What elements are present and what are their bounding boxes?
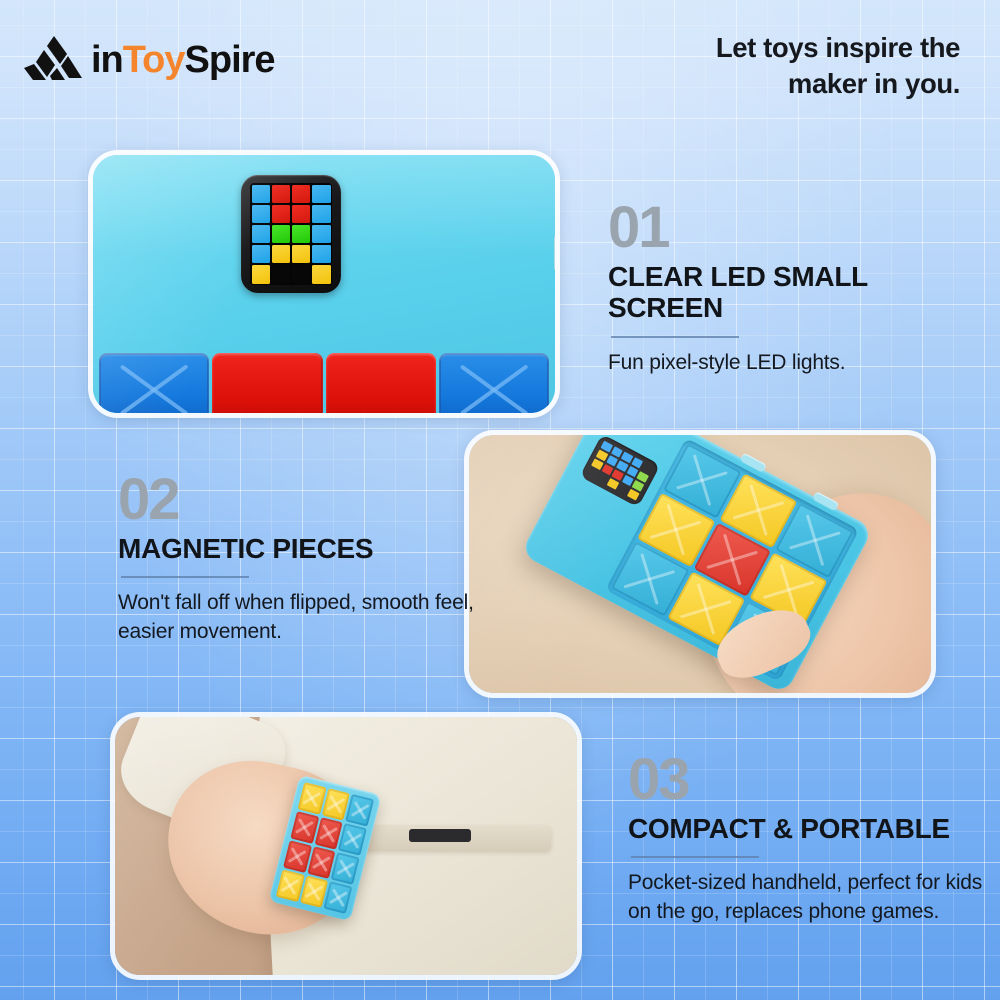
feature-2-divider — [121, 576, 249, 578]
feature-1-divider — [611, 336, 739, 338]
led-pixel-r2-c2 — [272, 205, 291, 224]
led-pixel-r3-c2 — [272, 225, 291, 244]
feature-1-description: Fun pixel-style LED lights. — [608, 349, 988, 378]
led-pixel-r1-c1 — [252, 185, 271, 204]
tagline-line-2: maker in you. — [540, 66, 960, 102]
led-pixel-r2-c1 — [252, 205, 271, 224]
led-pixel-grid — [250, 183, 332, 285]
brand-name-part1: in — [91, 39, 123, 81]
led-pixel-r4-c4 — [312, 245, 331, 264]
device-1-side-button — [554, 235, 560, 271]
device-2-mini-led-screen — [580, 434, 661, 507]
feature-2-title: MAGNETIC PIECES — [118, 533, 478, 564]
led-pixel-r4-c2 — [272, 245, 291, 264]
feature-2-number: 02 — [118, 472, 478, 527]
feature-block-3: 03 COMPACT & PORTABLE Pocket-sized handh… — [628, 752, 992, 927]
tagline-line-1: Let toys inspire the — [540, 30, 960, 66]
magnetic-tile-r2-c3 — [338, 823, 367, 856]
puzzle-piece-tray — [99, 353, 549, 418]
puzzle-piece-4 — [439, 353, 549, 418]
brand-name: inToySpire — [91, 41, 275, 79]
feature-photo-2 — [464, 430, 936, 698]
feature-3-description: Pocket-sized handheld, perfect for kids … — [628, 869, 992, 927]
tile-cross-2 — [329, 891, 348, 904]
brand-name-part2: Spire — [185, 39, 275, 81]
header-tagline: Let toys inspire the maker in you. — [540, 30, 960, 103]
led-pixel-r2-c3 — [292, 205, 311, 224]
led-pixel-r3-c3 — [292, 225, 311, 244]
photo-3-content — [115, 717, 577, 975]
magnetic-tile-r4-c3 — [324, 881, 353, 914]
feature-2-description: Won't fall off when flipped, smooth feel… — [118, 589, 478, 647]
led-pixel-r2-c4 — [312, 205, 331, 224]
puzzle-piece-2 — [212, 353, 322, 418]
photo-1-content — [93, 155, 555, 413]
led-pixel-r4-c1 — [252, 245, 271, 264]
tile-cross-2 — [343, 833, 362, 846]
feature-photo-3 — [110, 712, 582, 980]
led-pixel-r1-c4 — [312, 185, 331, 204]
brand-logo[interactable]: inToySpire — [24, 34, 275, 86]
feature-1-title: CLEAR LED SMALL SCREEN — [608, 261, 988, 324]
led-pixel-r5-c4 — [312, 265, 331, 284]
led-pixel-r1-c2 — [272, 185, 291, 204]
device-2-hinge-1 — [662, 430, 689, 432]
feature-3-title: COMPACT & PORTABLE — [628, 813, 992, 844]
led-pixel-r5-c3 — [292, 265, 311, 284]
photo-2-content — [469, 435, 931, 693]
tile-cross-2 — [336, 862, 355, 875]
page-header: inToySpire Let toys inspire the maker in… — [0, 0, 1000, 132]
photo-3-pocket-clip — [409, 829, 471, 842]
puzzle-piece-3 — [326, 353, 436, 418]
magnetic-tile-r3-c3 — [331, 852, 360, 885]
led-pixel-r5-c1 — [252, 265, 271, 284]
device-1-body — [89, 150, 559, 417]
led-pixel-r3-c4 — [312, 225, 331, 244]
feature-block-1: 01 CLEAR LED SMALL SCREEN Fun pixel-styl… — [608, 200, 988, 378]
led-pixel-r4-c3 — [292, 245, 311, 264]
led-pixel-r5-c2 — [272, 265, 291, 284]
led-pixel-r1-c3 — [292, 185, 311, 204]
led-pixel-r3-c1 — [252, 225, 271, 244]
brand-name-accent: Toy — [123, 39, 185, 81]
tile-cross-2 — [350, 804, 369, 817]
feature-3-divider — [631, 856, 759, 858]
feature-3-number: 03 — [628, 752, 992, 807]
feature-1-number: 01 — [608, 200, 988, 255]
mountain-m-logo-icon — [24, 34, 82, 86]
led-screen-bezel — [241, 175, 341, 293]
magnetic-tile-r1-c3 — [345, 794, 374, 827]
feature-block-2: 02 MAGNETIC PIECES Won't fall off when f… — [118, 472, 478, 647]
feature-photo-1 — [88, 150, 560, 418]
puzzle-piece-1 — [99, 353, 209, 418]
